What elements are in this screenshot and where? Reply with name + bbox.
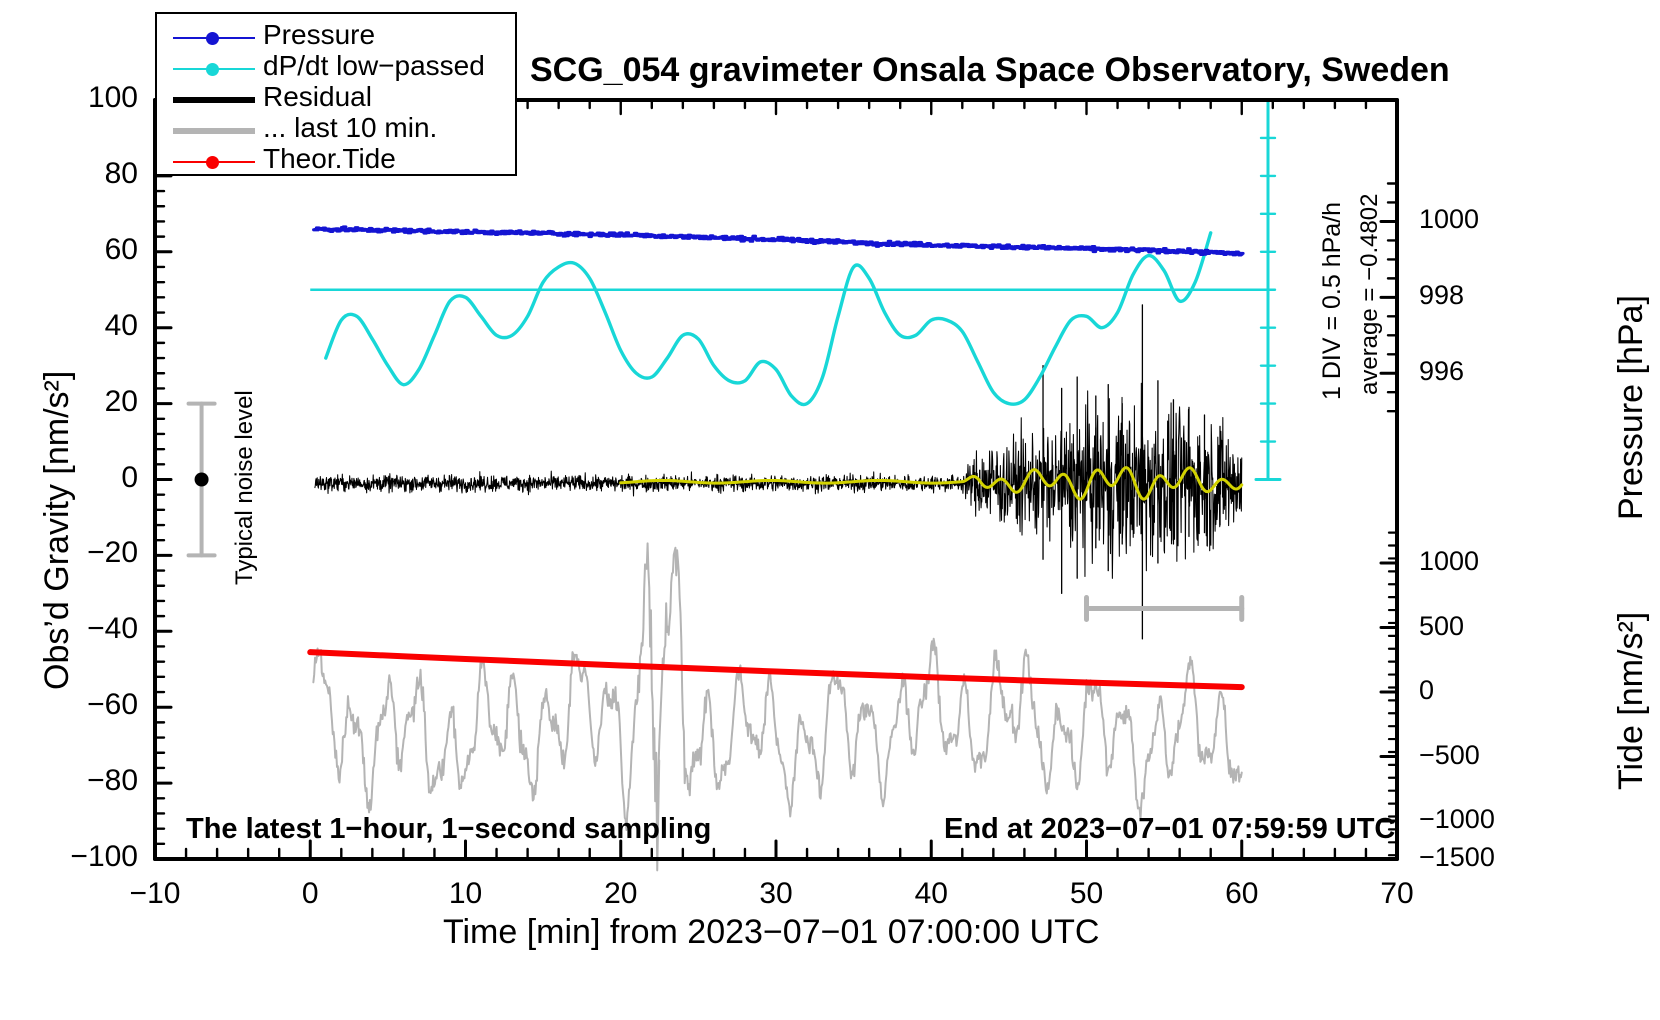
chart-canvas: SCG_054 gravimeter Onsala Space Observat…: [0, 0, 1660, 1020]
y-tick-label: 60: [40, 233, 138, 267]
x-tick-label: 0: [265, 877, 355, 911]
tide-tick-label: 0: [1419, 675, 1434, 706]
x-tick-label: 10: [421, 877, 511, 911]
noise-bar-center-dot: [195, 473, 209, 487]
series-last-10-min: [313, 543, 1241, 830]
legend-swatch-dot-icon: [206, 32, 219, 45]
y-tick-label: −20: [40, 536, 138, 570]
legend-swatch-dot-icon: [206, 156, 219, 169]
sampling-note: The latest 1−hour, 1−second sampling: [186, 813, 711, 846]
x-tick-label: 70: [1352, 877, 1442, 911]
pressure-axis-title: Pressure [hPa]: [1612, 295, 1651, 520]
y-tick-label: 20: [40, 385, 138, 419]
legend-swatch-line-icon: [173, 97, 255, 103]
x-tick-label: 50: [1042, 877, 1132, 911]
page-title: SCG_054 gravimeter Onsala Space Observat…: [530, 51, 1450, 90]
tide-tick-label: 1000: [1419, 546, 1479, 577]
x-tick-label: −10: [110, 877, 200, 911]
y-tick-label: −40: [40, 612, 138, 646]
tide-axis-title: Tide [nm/s²]: [1612, 612, 1651, 790]
pressure-tick-label: 998: [1419, 280, 1464, 311]
legend-item-label: Pressure: [263, 19, 375, 51]
noise-level-label: Typical noise level: [231, 390, 259, 585]
x-tick-label: 30: [731, 877, 821, 911]
y-tick-label: 40: [40, 309, 138, 343]
x-axis-title: Time [min] from 2023−07−01 07:00:00 UTC: [443, 913, 1099, 952]
tide-tick-label: −1500: [1419, 842, 1495, 873]
legend-item-4[interactable]: Theor.Tide: [157, 146, 515, 178]
series-dpdt-lowpassed: [326, 233, 1211, 405]
legend: PressuredP/dt low−passedResidual... last…: [155, 12, 517, 176]
x-tick-label: 60: [1197, 877, 1287, 911]
x-tick-label: 40: [886, 877, 976, 911]
y-tick-label: 0: [40, 461, 138, 495]
end-time-note: End at 2023−07−01 07:59:59 UTC: [944, 813, 1395, 846]
legend-swatch-dot-icon: [206, 63, 219, 76]
legend-item-label: Theor.Tide: [263, 143, 396, 175]
dpdt-average-label: average = −0.4802: [1356, 193, 1384, 395]
y-tick-label: −100: [40, 840, 138, 874]
tide-tick-label: −500: [1419, 740, 1480, 771]
legend-swatch-line-icon: [173, 128, 255, 134]
y-tick-label: −60: [40, 688, 138, 722]
legend-item-label: Residual: [263, 81, 372, 113]
tide-tick-label: 500: [1419, 611, 1464, 642]
series-pressure: [314, 227, 1243, 255]
legend-item-label: dP/dt low−passed: [263, 50, 485, 82]
x-tick-label: 20: [576, 877, 666, 911]
y-tick-label: 80: [40, 157, 138, 191]
series-theor-tide: [310, 652, 1242, 687]
legend-item-label: ... last 10 min.: [263, 112, 437, 144]
pressure-tick-label: 996: [1419, 356, 1464, 387]
pressure-tick-label: 1000: [1419, 204, 1479, 235]
y-tick-label: 100: [40, 81, 138, 115]
y-tick-label: −80: [40, 764, 138, 798]
dpdt-scale-label: 1 DIV = 0.5 hPa/h: [1318, 202, 1347, 400]
tide-tick-label: −1000: [1419, 804, 1495, 835]
